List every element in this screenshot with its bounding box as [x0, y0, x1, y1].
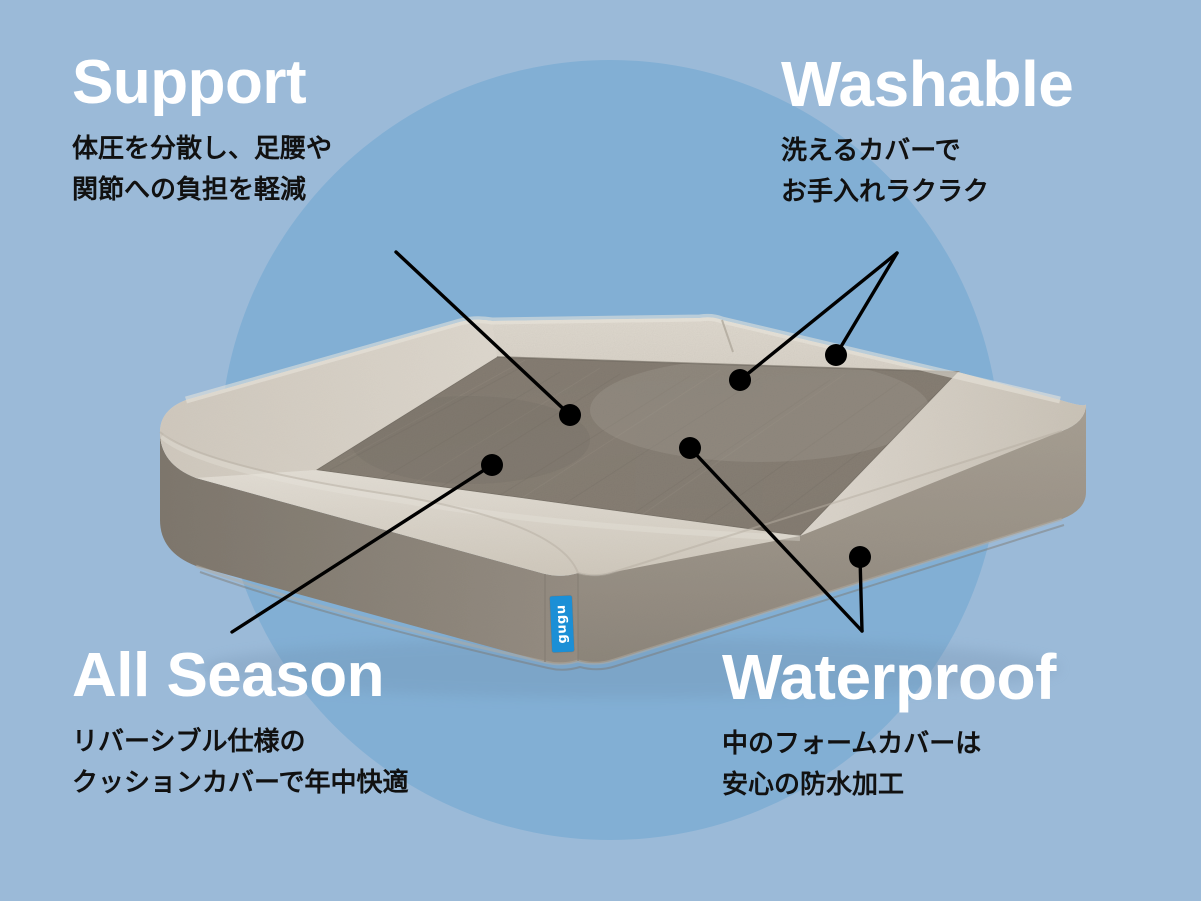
callout-waterproof-line-2: 安心の防水加工 [722, 764, 1056, 805]
callout-washable-heading: Washable [781, 52, 1073, 116]
callout-waterproof-description: 中のフォームカバーは 安心の防水加工 [722, 723, 1056, 805]
callout-support-line-2: 関節への負担を軽減 [72, 169, 332, 210]
callout-waterproof: Waterproof 中のフォームカバーは 安心の防水加工 [722, 645, 1056, 805]
callout-support-line-1: 体圧を分散し、足腰や [72, 128, 332, 169]
callout-support-description: 体圧を分散し、足腰や 関節への負担を軽減 [72, 128, 332, 210]
callout-waterproof-line-1: 中のフォームカバーは [722, 723, 1056, 764]
callout-washable: Washable 洗えるカバーで お手入れラクラク [781, 52, 1073, 212]
callout-support: Support 体圧を分散し、足腰や 関節への負担を軽減 [72, 52, 332, 210]
brand-tag-label: gugu [554, 604, 571, 644]
callout-all-season-heading: All Season [72, 645, 408, 707]
callout-washable-description: 洗えるカバーで お手入れラクラク [781, 130, 1073, 212]
callout-all-season: All Season リバーシブル仕様の クッションカバーで年中快適 [72, 645, 408, 803]
callout-all-season-description: リバーシブル仕様の クッションカバーで年中快適 [72, 721, 408, 803]
callout-all-season-line-1: リバーシブル仕様の [72, 721, 408, 762]
infographic-canvas: gugu Support 体圧を分散し、足腰や 関節への負担を軽減 Washab… [0, 0, 1201, 901]
callout-waterproof-heading: Waterproof [722, 645, 1056, 709]
callout-washable-line-2: お手入れラクラク [781, 171, 1073, 212]
callout-all-season-line-2: クッションカバーで年中快適 [72, 762, 408, 803]
callout-washable-line-1: 洗えるカバーで [781, 130, 1073, 171]
brand-tag: gugu [550, 596, 574, 653]
callout-support-heading: Support [72, 52, 332, 114]
